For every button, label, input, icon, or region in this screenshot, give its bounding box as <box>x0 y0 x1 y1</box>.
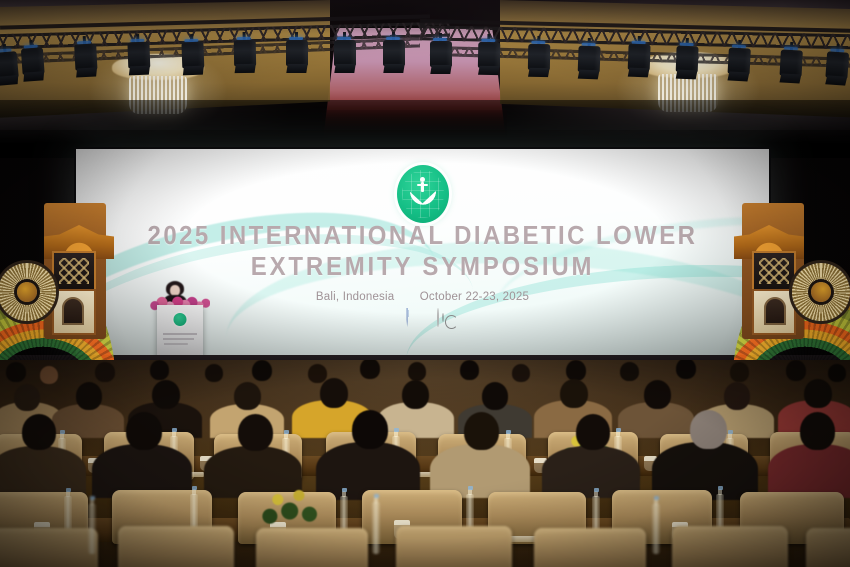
chair <box>396 526 512 567</box>
ornament-carved-panel <box>52 251 96 291</box>
ornament-sun-fan <box>0 263 56 321</box>
stage-light <box>181 42 204 77</box>
chair <box>0 528 98 567</box>
stage-light <box>675 46 698 81</box>
stage-light <box>577 46 600 81</box>
water-bottle <box>652 504 660 554</box>
stage-light <box>74 43 98 78</box>
chair <box>672 526 788 567</box>
audience-area <box>0 360 850 567</box>
water-bottle <box>372 502 380 554</box>
stage-light <box>127 42 150 77</box>
symposium-title-line1: 2025 INTERNATIONAL DIABETIC LOWER <box>97 221 748 252</box>
podium-text-lines <box>163 333 197 347</box>
logo-human-figure <box>418 177 427 193</box>
stage-light <box>286 40 308 74</box>
podium-logo-icon <box>174 313 187 326</box>
ornament-sun-fan <box>792 263 850 321</box>
chair <box>806 528 850 567</box>
stage-light <box>430 41 452 75</box>
stage-light <box>21 47 45 82</box>
stage-light <box>825 51 849 86</box>
stage-light <box>528 44 551 78</box>
ornament-niche <box>752 289 796 335</box>
symposium-title: 2025 INTERNATIONAL DIABETIC LOWER EXTREM… <box>97 221 748 283</box>
ornament-niche <box>52 289 96 335</box>
stage-light <box>383 40 405 74</box>
water-bottle <box>88 504 96 554</box>
stage-light <box>334 40 356 74</box>
green-globe-figure-logo <box>397 165 449 223</box>
blue-shield-crest-icon <box>406 309 408 327</box>
stage-light <box>627 44 650 79</box>
stage-light <box>0 51 19 87</box>
stage-light <box>727 47 751 82</box>
silver-circular-seal-icon <box>437 309 439 327</box>
chair <box>534 528 646 567</box>
chair <box>118 526 234 567</box>
symposium-dates: October 22-23, 2025 <box>420 291 529 303</box>
stage-light <box>779 49 803 84</box>
conference-photo-scene: 2025 INTERNATIONAL DIABETIC LOWER EXTREM… <box>0 0 850 567</box>
chair <box>256 528 368 567</box>
stage-light <box>234 40 257 74</box>
symposium-title-line2: EXTREMITY SYMPOSIUM <box>97 252 748 283</box>
ornament-carved-panel <box>752 251 796 291</box>
stage-light <box>478 42 501 76</box>
symposium-location: Bali, Indonesia <box>316 291 394 303</box>
